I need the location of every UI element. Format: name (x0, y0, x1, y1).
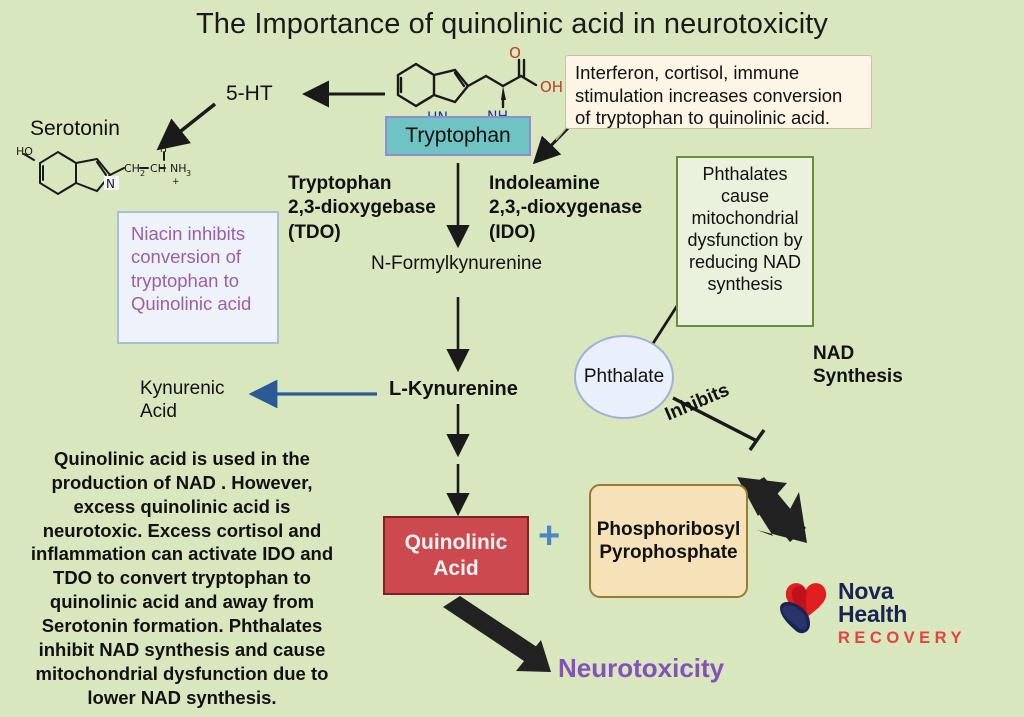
svg-text:HO: HO (16, 145, 33, 158)
svg-text:CH: CH (124, 162, 140, 175)
node-tryptophan-label: Tryptophan (405, 124, 510, 148)
page-title: The Importance of quinolinic acid in neu… (0, 8, 1024, 41)
label-l-kynurenine: L-Kynurenine (389, 378, 518, 401)
arrow-quinolinic-to-neurotoxicity-head (516, 640, 551, 672)
node-phthalate[interactable]: Phthalate (574, 335, 674, 419)
label-ido-enzyme: Indoleamine 2,3,-dioxygenase (IDO) (489, 172, 642, 245)
svg-text:H: H (160, 145, 167, 155)
logo-tagline: RECOVERY (838, 630, 966, 647)
label-nad-synthesis: NAD Synthesis (813, 342, 903, 388)
arrow-interferon-to-pathway (537, 124, 572, 160)
callout-tail-interferon (556, 128, 566, 140)
svg-text:2: 2 (140, 169, 145, 178)
node-quinolinic-acid[interactable]: Quinolinic Acid (383, 516, 529, 595)
description-paragraph: Quinolinic acid is used in the productio… (22, 447, 342, 709)
callout-phthalates-text: Phthalates cause mitochondrial dysfuncti… (687, 164, 802, 294)
node-phosphoribosyl-pyrophosphate[interactable]: Phosphoribosyl Pyrophosphate (589, 484, 748, 598)
plus-sign: + (538, 515, 560, 558)
callout-interferon: Interferon, cortisol, immune stimulation… (565, 55, 872, 129)
arrow-prpp-to-nad-shaft (748, 477, 806, 542)
node-tryptophan[interactable]: Tryptophan (385, 116, 531, 156)
inhibit-tbar (750, 430, 764, 450)
svg-text:3: 3 (186, 169, 191, 178)
arrow-5ht-to-serotonin (162, 104, 215, 146)
svg-text:CH: CH (150, 162, 166, 175)
label-5ht: 5-HT (226, 82, 273, 106)
label-tdo-enzyme: Tryptophan 2,3-dioxygebase (TDO) (288, 172, 436, 245)
logo-wordmark: Nova Health RECOVERY (838, 580, 966, 647)
callout-niacin: Niacin inhibits conversion of tryptophan… (117, 211, 279, 344)
arrow-quinolinic-to-neurotoxicity-shaft (443, 596, 543, 663)
diagram-canvas: O OH NH 2 HN HO N CH 2 CH H NH 3 + Th (0, 0, 1024, 717)
callout-phthalates: Phthalates cause mitochondrial dysfuncti… (676, 156, 814, 327)
callout-niacin-text: Niacin inhibits conversion of tryptophan… (131, 223, 251, 314)
label-neurotoxicity: Neurotoxicity (558, 653, 724, 684)
label-serotonin: Serotonin (30, 117, 120, 141)
node-phthalate-label: Phthalate (584, 366, 664, 388)
svg-text:N: N (106, 177, 115, 191)
heart-hand-icon (776, 578, 836, 636)
node-prpp-label: Phosphoribosyl Pyrophosphate (597, 518, 741, 564)
svg-text:O: O (509, 44, 521, 62)
arrow-prpp-to-nad (745, 478, 807, 543)
logo-name: Nova Health (838, 580, 966, 626)
node-quinolinic-acid-label: Quinolinic Acid (405, 530, 508, 580)
svg-text:NH: NH (170, 162, 187, 175)
svg-text:+: + (172, 177, 180, 187)
label-kynurenic-acid: Kynurenic Acid (140, 377, 225, 423)
svg-text:OH: OH (540, 78, 563, 96)
label-n-formylkynurenine: N-Formylkynurenine (371, 253, 542, 275)
callout-interferon-text: Interferon, cortisol, immune stimulation… (575, 62, 842, 128)
nova-health-recovery-logo[interactable]: Nova Health RECOVERY (776, 578, 951, 638)
